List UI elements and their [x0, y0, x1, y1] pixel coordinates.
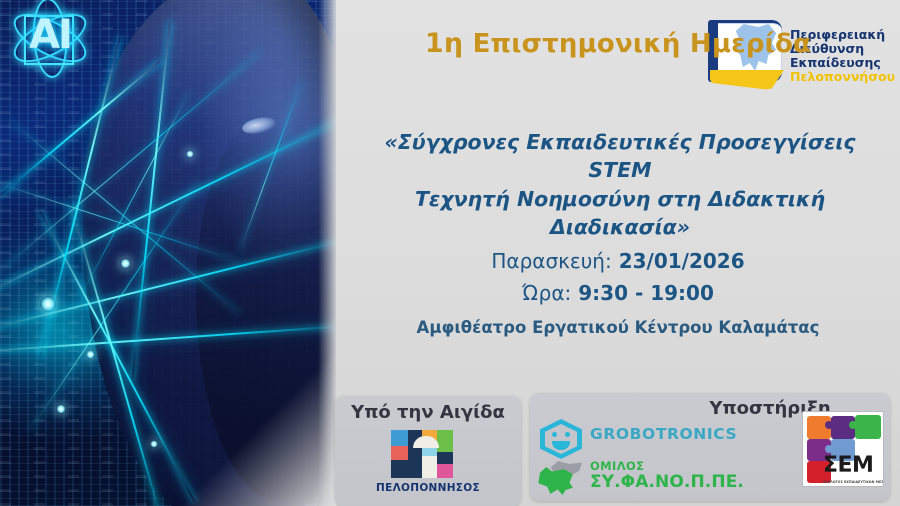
sponsor-syfanoppe-line2: ΣΥ.ΦΑ.ΝΟ.Π.ΠΕ.: [590, 472, 744, 492]
subtitle-line-2: STEM: [350, 156, 890, 184]
peloponnese-region-mosaic-icon: [391, 430, 453, 478]
event-time-row: Ώρα: 9:30 - 19:00: [336, 278, 900, 310]
sponsor-sem-subtitle: ΣΥΛΛΟΓΟΣ ΕΚΠΑΙΔΕΥΤΙΚΩΝ ΜΕΣΣΗΝΙΑΣ: [823, 480, 883, 484]
sponsor-syfanoppe-line1: ΟΜΙΛΟΣ: [590, 459, 644, 473]
robot-face-hexagon-icon: [540, 419, 582, 459]
aegis-title: Υπό την Αιγίδα: [335, 396, 521, 423]
date-value: 23/01/2026: [619, 249, 745, 273]
mosaic-tile: [437, 452, 453, 464]
ai-logo-letters: AI: [8, 12, 92, 58]
event-main-title: 1η Επιστημονική Ημερίδα: [336, 28, 900, 59]
time-value: 9:30 - 19:00: [578, 281, 714, 305]
event-venue: Αμφιθέατρο Εργατικού Κέντρου Καλαμάτας: [336, 318, 900, 337]
event-date-row: Παρασκευή: 23/01/2026: [336, 246, 900, 278]
network-node: [56, 404, 66, 414]
network-node: [120, 258, 131, 269]
sponsor-sem-name: ΣΕΜ: [823, 453, 873, 478]
robot-eye-left: [552, 432, 557, 437]
robot-eye-right: [565, 432, 570, 437]
subtitle-line-1: «Σύγχρονες Εκπαιδευτικές Προσεγγίσεις: [350, 128, 890, 156]
puzzle-knob: [825, 421, 833, 429]
event-subtitle: «Σύγχρονες Εκπαιδευτικές Προσεγγίσεις ST…: [350, 128, 890, 241]
mosaic-tile: [437, 464, 453, 478]
mosaic-tile: [391, 460, 408, 478]
ai-hero-image: AI: [0, 0, 336, 506]
puzzle-knob: [849, 421, 857, 429]
network-node: [86, 350, 95, 359]
event-title-rest: Επιστημονική Ημερίδα: [463, 29, 811, 59]
ai-atom-logo: AI: [8, 4, 92, 78]
subtitle-line-3: Τεχνητή Νοημοσύνη στη Διδακτική Διαδικασ…: [350, 185, 890, 242]
puzzle-knob: [825, 445, 833, 453]
mosaic-tile: [391, 446, 408, 460]
panel-edge-fade: [318, 0, 336, 506]
time-label: Ώρα:: [522, 281, 571, 305]
puzzle-pieces-icon: [855, 415, 881, 439]
support-panel: Υποστήριξη GROBOTRONICS ΟΜΙΛΟΣ ΣΥ.ΦΑ.ΝΟ.…: [530, 393, 890, 501]
pde-line-4: Πελοποννήσου: [790, 70, 895, 84]
mosaic-tile: [437, 430, 453, 452]
event-ordinal: 1η: [425, 28, 463, 59]
book-yellow-accent: [710, 70, 784, 90]
sponsor-grobotronics-name: GROBOTRONICS: [590, 425, 737, 443]
aegis-logo-label: ΠΕΛΟΠΟΝΝΗΣΟΣ: [335, 482, 521, 494]
mosaic-tile: [422, 456, 437, 478]
sem-logo: ΣΕΜ ΣΥΛΛΟΓΟΣ ΕΚΠΑΙΔΕΥΤΙΚΩΝ ΜΕΣΣΗΝΙΑΣ: [802, 411, 884, 487]
mosaic-tile: [391, 430, 408, 446]
aegis-panel: Υπό την Αιγίδα ΠΕΛΟΠΟΝΝΗΣΟΣ: [335, 396, 521, 506]
network-node: [186, 150, 194, 158]
network-node: [40, 296, 56, 312]
date-label: Παρασκευή:: [491, 249, 611, 273]
green-animal-map-icon: [536, 459, 584, 497]
event-datetime: Παρασκευή: 23/01/2026 Ώρα: 9:30 - 19:00: [336, 246, 900, 309]
